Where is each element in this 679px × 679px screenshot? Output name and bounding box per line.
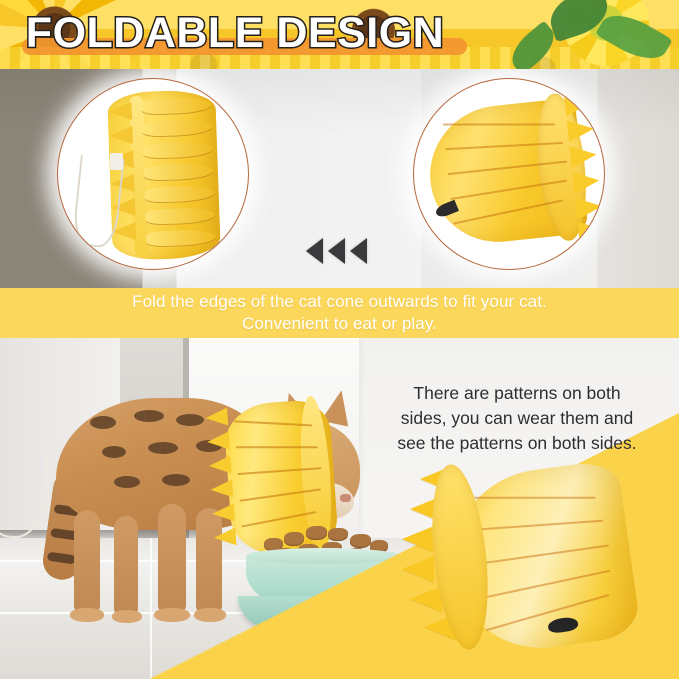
cat-paw (154, 608, 190, 622)
folded-cone-circle (57, 78, 249, 270)
feature-line-2: sides, you can wear them and (358, 406, 676, 431)
caption-line-2: Convenient to eat or play. (242, 313, 437, 335)
expanded-cone-circle (413, 78, 605, 270)
cone-buckle (110, 153, 123, 170)
comparison-strip (0, 69, 679, 288)
feature-line-1: There are patterns on both (358, 381, 676, 406)
feature-line-3: see the patterns on both sides. (358, 431, 676, 456)
cat-leg (158, 504, 186, 614)
cat-leg (74, 510, 100, 614)
cat-paw (112, 610, 142, 623)
left-arrow-icon (306, 238, 323, 264)
cat-nose (340, 494, 351, 502)
expanded-cone-image (423, 97, 588, 248)
cone-neck-strap (0, 442, 49, 540)
header-banner: FOLDABLE DESIGN (0, 0, 679, 69)
product-infographic-page: FOLDABLE DESIGN (0, 0, 679, 679)
lifestyle-scene: There are patterns on both sides, you ca… (0, 338, 679, 679)
cat-paw (194, 608, 226, 622)
cat-paw (70, 608, 104, 622)
left-arrow-icon (328, 238, 345, 264)
cat-leg (196, 508, 222, 614)
cat-leg (114, 516, 138, 616)
left-arrow-icon (350, 238, 367, 264)
bowl-rim (246, 548, 400, 564)
folded-cone-image (107, 89, 221, 261)
caption-line-1: Fold the edges of the cat cone outwards … (132, 291, 547, 313)
page-title: FOLDABLE DESIGN (0, 9, 470, 57)
feature-description: There are patterns on both sides, you ca… (358, 381, 676, 456)
caption-band: Fold the edges of the cat cone outwards … (0, 288, 679, 338)
transform-arrows (296, 237, 376, 265)
product-photo (398, 460, 660, 656)
